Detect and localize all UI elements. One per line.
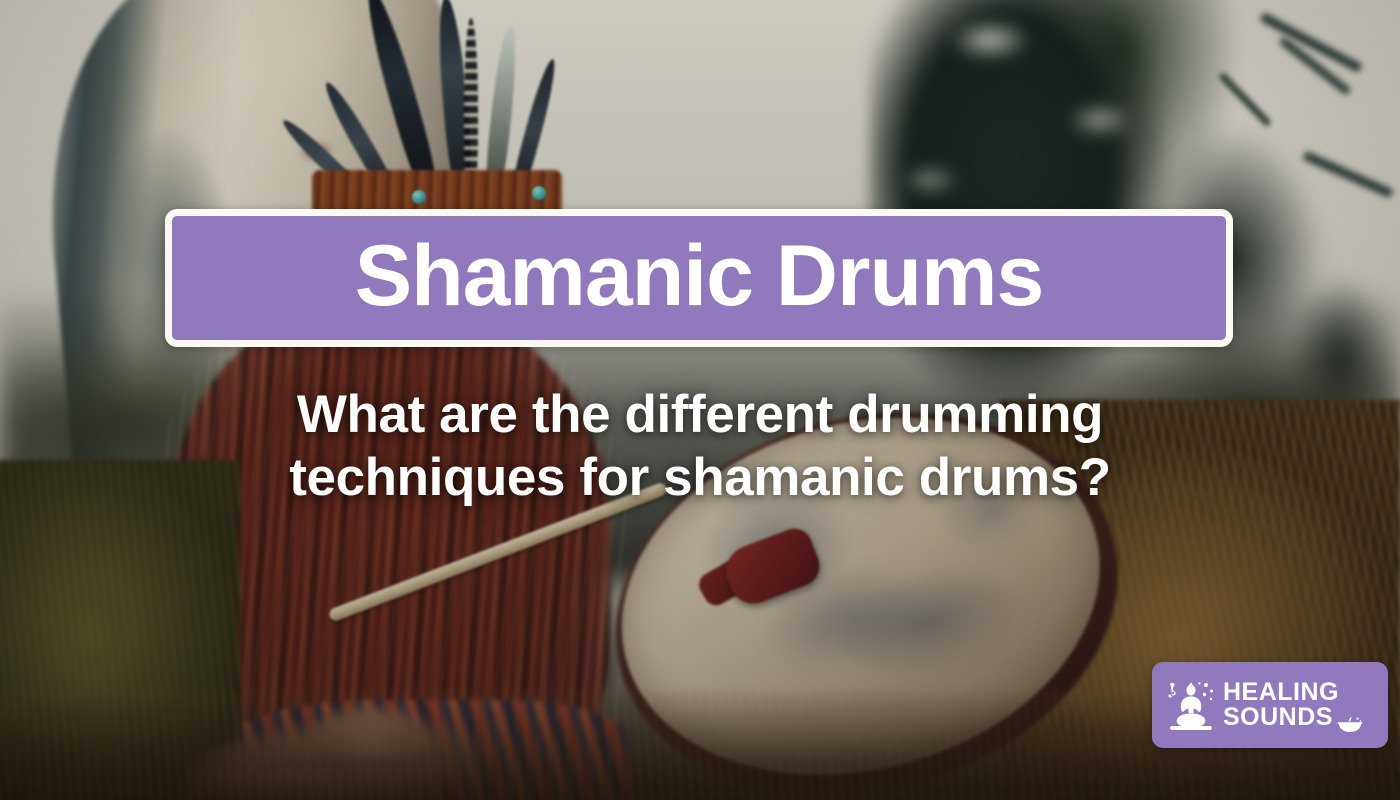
title-banner: Shamanic Drums xyxy=(165,209,1233,347)
brand-line-2: SOUNDS xyxy=(1223,705,1333,731)
brand-line-1: HEALING xyxy=(1223,678,1339,706)
subtitle-line-1: What are the different drumming xyxy=(297,385,1103,444)
brand-logo-badge[interactable]: HEALING SOUNDS xyxy=(1152,662,1388,748)
subtitle-line-2: techniques for shamanic drums? xyxy=(150,447,1250,510)
meditating-figure-icon xyxy=(1166,677,1218,733)
page-title: Shamanic Drums xyxy=(355,233,1044,319)
brand-wordmark: HEALING SOUNDS xyxy=(1223,680,1363,731)
singing-bowl-icon xyxy=(1337,713,1363,729)
featured-image-canvas: Shamanic Drums What are the different dr… xyxy=(0,0,1400,800)
subtitle-question: What are the different drumming techniqu… xyxy=(150,384,1250,509)
